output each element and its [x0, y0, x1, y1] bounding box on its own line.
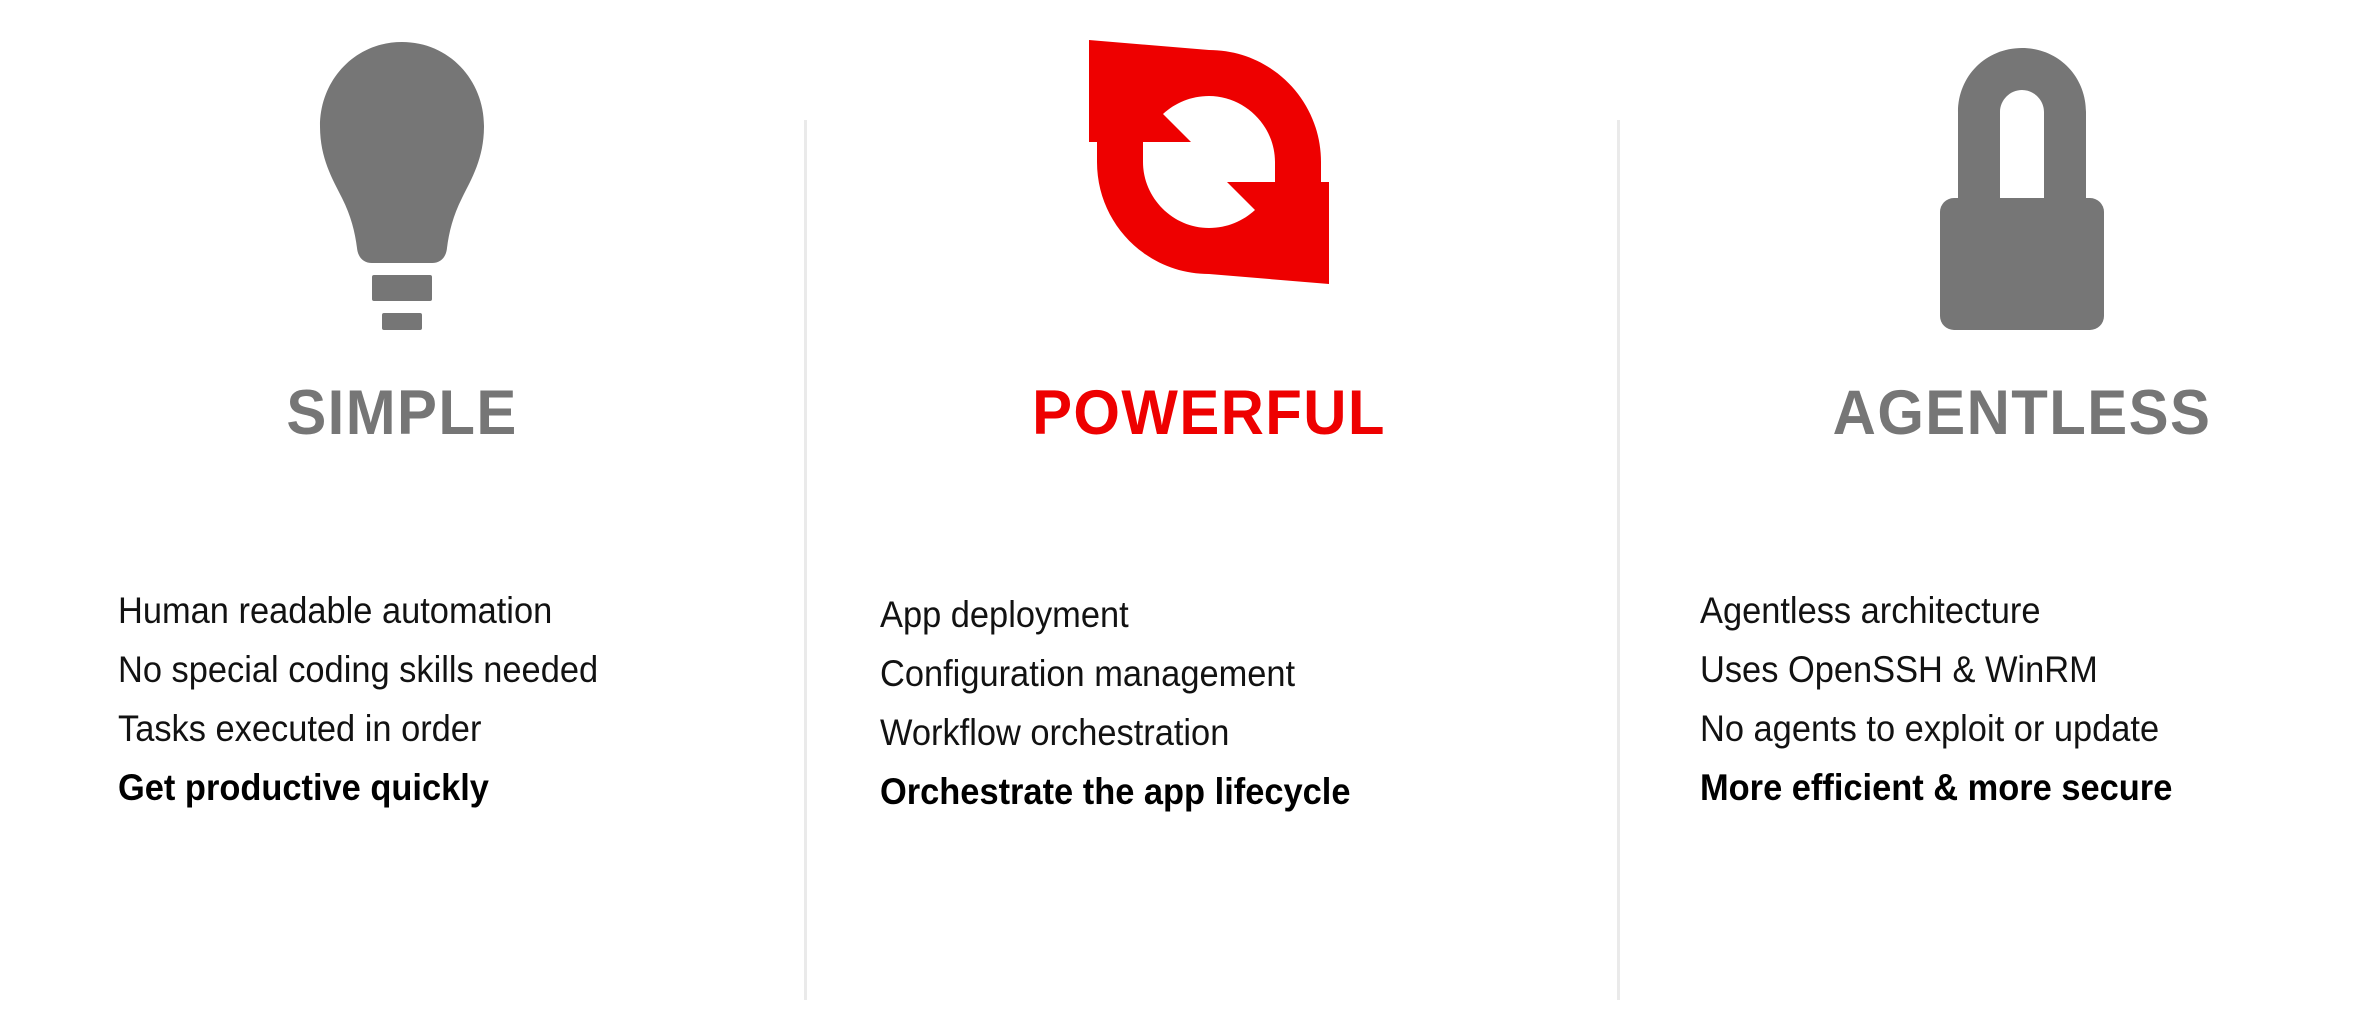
- refresh-sync-arrows-icon-area: [807, 30, 1611, 330]
- list-item-highlight: More efficient & more secure: [1700, 769, 2172, 828]
- column-heading-powerful: POWERFUL: [827, 382, 1591, 445]
- feature-column-agentless: AGENTLESS Agentless architecture Uses Op…: [1620, 0, 2380, 1019]
- lightbulb-icon-area: [0, 30, 804, 330]
- column-heading-simple: SIMPLE: [20, 382, 784, 445]
- feature-list-powerful: App deployment Configuration management …: [880, 596, 1386, 832]
- list-item: Uses OpenSSH & WinRM: [1700, 651, 2172, 710]
- refresh-sync-arrows-icon: [1079, 30, 1339, 330]
- list-item: Workflow orchestration: [880, 714, 1350, 773]
- column-heading-agentless: AGENTLESS: [1640, 382, 2380, 445]
- list-item: Tasks executed in order: [118, 710, 598, 769]
- feature-comparison-board: SIMPLE Human readable automation No spec…: [0, 0, 2380, 1019]
- list-item: Human readable automation: [118, 592, 598, 651]
- feature-column-simple: SIMPLE Human readable automation No spec…: [0, 0, 804, 1019]
- list-item: Configuration management: [880, 655, 1350, 714]
- list-item-highlight: Orchestrate the app lifecycle: [880, 773, 1350, 832]
- list-item-highlight: Get productive quickly: [118, 769, 598, 828]
- list-item: App deployment: [880, 596, 1350, 655]
- padlock-icon: [1922, 30, 2122, 330]
- list-item: No special coding skills needed: [118, 651, 598, 710]
- list-item: Agentless architecture: [1700, 592, 2172, 651]
- feature-column-powerful: POWERFUL App deployment Configuration ma…: [807, 0, 1611, 1019]
- feature-list-simple: Human readable automation No special cod…: [118, 592, 634, 828]
- feature-list-agentless: Agentless architecture Uses OpenSSH & Wi…: [1700, 592, 2208, 828]
- lightbulb-icon: [302, 30, 502, 330]
- list-item: No agents to exploit or update: [1700, 710, 2172, 769]
- padlock-icon-area: [1620, 30, 2380, 330]
